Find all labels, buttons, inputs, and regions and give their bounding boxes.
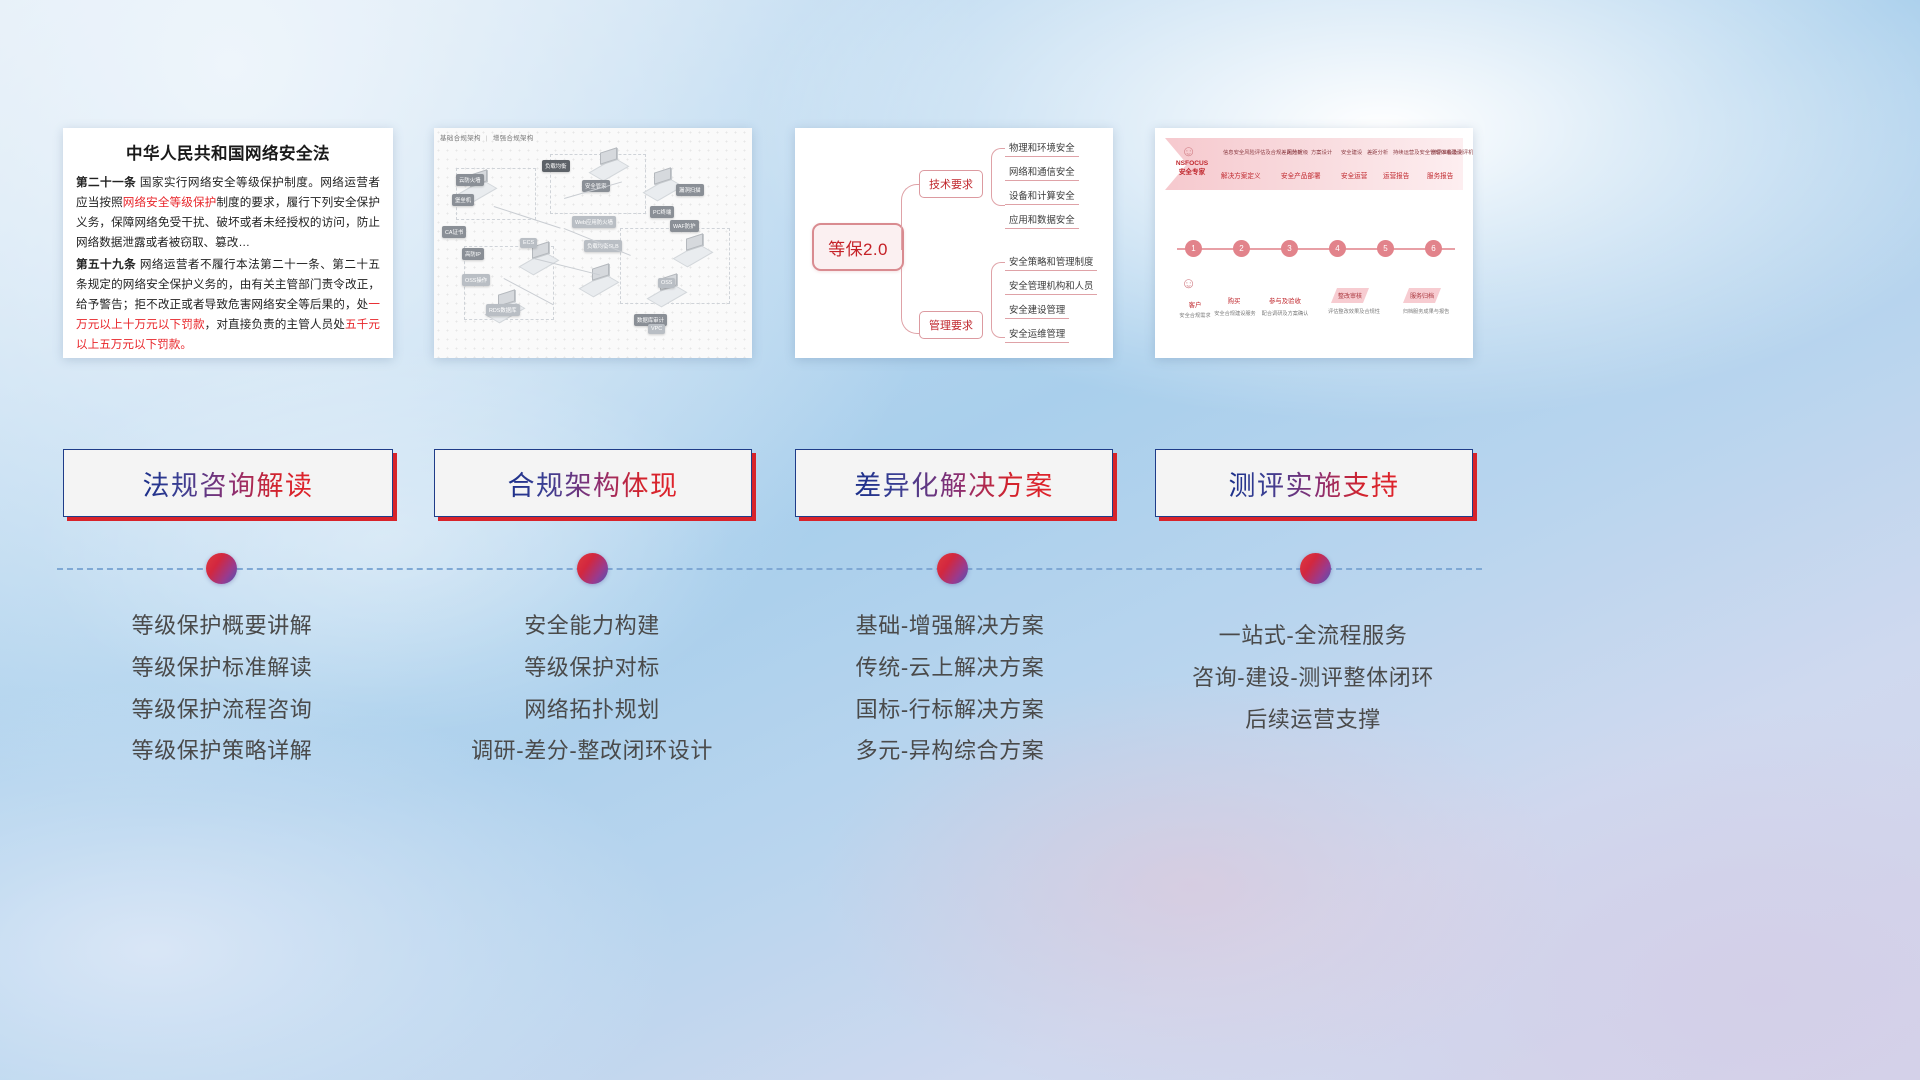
- nsfocus-header-6: 测评准备及测评机构对接支持: [1431, 148, 1473, 156]
- mindmap-leaf-mgmt-3: 安全运维管理: [1005, 326, 1069, 343]
- architecture-node-10: OSS: [658, 278, 675, 288]
- nsfocus-bottom-sub-3: 归档服务成果与报告: [1387, 308, 1465, 315]
- banner-label-0: 法规咨询解读: [143, 464, 314, 503]
- law-clause-21: 第二十一条 国家实行网络安全等级保护制度。网络运营者应当按照网络安全等级保护制度…: [76, 173, 380, 253]
- mindmap-root-node: 等保2.0: [812, 223, 904, 271]
- mindmap-leaf-mgmt-2: 安全建设管理: [1005, 302, 1069, 319]
- law-clause-59-label: 第五十九条: [76, 258, 136, 271]
- architecture-header: 基础合规架构|增强合规架构: [440, 132, 534, 142]
- list-item: 等级保护流程咨询: [42, 689, 402, 731]
- nsfocus-role-label: 客户: [1173, 300, 1217, 309]
- nsfocus-sub-0: 解决方案定义: [1221, 170, 1261, 180]
- banner-differentiated-solution[interactable]: 差异化解决方案: [795, 449, 1113, 517]
- nsfocus-step-0: 1: [1185, 240, 1202, 257]
- mindmap-diagram: 等保2.0 技术要求 管理要求 物理和环境安全 网络和通信安全 设备和计算安全 …: [795, 128, 1113, 358]
- mindmap-leaf-tech-2: 设备和计算安全: [1005, 188, 1079, 205]
- nsfocus-axis: [1177, 248, 1455, 250]
- architecture-node-14: CA证书: [442, 226, 466, 238]
- thumbnail-card-mindmap[interactable]: 等保2.0 技术要求 管理要求 物理和环境安全 网络和通信安全 设备和计算安全 …: [795, 128, 1113, 358]
- nsfocus-tag-1: 服务归档: [1403, 288, 1441, 303]
- timeline-dashed-line: [57, 568, 1482, 570]
- architecture-node-15: 高防IP: [462, 248, 484, 260]
- banner-legal-consulting[interactable]: 法规咨询解读: [63, 449, 393, 517]
- list-legal-consulting: 等级保护概要讲解 等级保护标准解读 等级保护流程咨询 等级保护策略详解: [42, 605, 402, 772]
- architecture-node-13: OSS操作: [462, 274, 490, 286]
- banner-label-1: 合规架构体现: [508, 464, 679, 503]
- mindmap-curve-tech-leaves: [991, 148, 1005, 206]
- nsfocus-step-5: 6: [1425, 240, 1442, 257]
- nsfocus-sub-1: 安全产品部署: [1281, 170, 1321, 180]
- nsfocus-header-2: 方案设计: [1311, 148, 1332, 156]
- nsfocus-bottom-sub-2: 评估整改效果及合规性: [1315, 308, 1393, 315]
- nsfocus-step-4: 5: [1377, 240, 1394, 257]
- list-item: 一站式-全流程服务: [1133, 615, 1493, 657]
- thumbnail-card-architecture[interactable]: 基础合规架构|增强合规架构 负载均衡 安全管家 云防火墙: [434, 128, 752, 358]
- mindmap-branch-tech: 技术要求: [919, 170, 983, 198]
- list-item: 等级保护策略详解: [42, 730, 402, 772]
- nsfocus-bottom-item-1: 参与及验收: [1261, 296, 1309, 305]
- architecture-header-left: 基础合规架构: [440, 135, 481, 142]
- nsfocus-sub-2: 安全运营: [1341, 170, 1367, 180]
- nsfocus-logo-line1: NSFOCUS: [1169, 160, 1215, 169]
- architecture-node-2: 云防火墙: [456, 174, 484, 186]
- law-clause-21-label: 第二十一条: [76, 176, 136, 189]
- timeline-dot-1: [577, 553, 608, 584]
- law-clause-59-text-2: ，对直接负责的主管人员处: [205, 318, 345, 331]
- nsfocus-header-1: 风险定级: [1287, 148, 1308, 156]
- banner-label-3: 测评实施支持: [1229, 464, 1400, 503]
- law-clause-21-highlight: 网络安全等级保护: [123, 196, 217, 209]
- expert-icon: ☺: [1181, 144, 1196, 159]
- thumbnail-card-nsfocus[interactable]: ☺ NSFOCUS 安全专家 信息安全风险评估及合规差距分析 风险定级 方案设计…: [1155, 128, 1473, 358]
- nsfocus-bottom-sub-1: 配合调研及方案确认: [1253, 310, 1317, 317]
- timeline-dot-0: [206, 553, 237, 584]
- list-item: 传统-云上解决方案: [770, 647, 1130, 689]
- nsfocus-logo: NSFOCUS 安全专家: [1169, 160, 1215, 178]
- mindmap-leaf-tech-3: 应用和数据安全: [1005, 212, 1079, 229]
- list-item: 等级保护对标: [412, 647, 772, 689]
- nsfocus-tag-0: 整改审核: [1331, 288, 1369, 303]
- banner-compliance-architecture[interactable]: 合规架构体现: [434, 449, 752, 517]
- list-item: 多元-异构综合方案: [770, 730, 1130, 772]
- timeline-dot-3: [1300, 553, 1331, 584]
- nsfocus-diagram: ☺ NSFOCUS 安全专家 信息安全风险评估及合规差距分析 风险定级 方案设计…: [1155, 128, 1473, 358]
- architecture-node-12: RDS数据库: [486, 304, 520, 316]
- list-item: 等级保护概要讲解: [42, 605, 402, 647]
- list-item: 等级保护标准解读: [42, 647, 402, 689]
- list-item: 安全能力构建: [412, 605, 772, 647]
- nsfocus-step-3: 4: [1329, 240, 1346, 257]
- list-item: 国标-行标解决方案: [770, 689, 1130, 731]
- nsfocus-header-4: 差距分析: [1367, 148, 1388, 156]
- architecture-node-8: ECS: [520, 238, 537, 248]
- architecture-node-3: 堡垒机: [452, 194, 474, 206]
- architecture-header-right: 增强合规架构: [493, 135, 534, 142]
- nsfocus-sub-4: 服务报告: [1427, 170, 1453, 180]
- list-compliance-architecture: 安全能力构建 等级保护对标 网络拓扑规划 调研-差分-整改闭环设计: [412, 605, 772, 772]
- nsfocus-step-2: 3: [1281, 240, 1298, 257]
- mindmap-curve-mgmt-leaves: [991, 262, 1005, 338]
- banner-label-2: 差异化解决方案: [854, 464, 1054, 503]
- nsfocus-sub-3: 运营报告: [1383, 170, 1409, 180]
- mindmap-leaf-mgmt-0: 安全策略和管理制度: [1005, 254, 1097, 271]
- nsfocus-bottom-item-0: 购买: [1217, 296, 1251, 305]
- customer-icon: ☺: [1181, 276, 1196, 291]
- thumbnail-card-law[interactable]: 中华人民共和国网络安全法 第二十一条 国家实行网络安全等级保护制度。网络运营者应…: [63, 128, 393, 358]
- mindmap-branch-mgmt: 管理要求: [919, 311, 983, 339]
- architecture-diagram: 基础合规架构|增强合规架构 负载均衡 安全管家 云防火墙: [434, 128, 752, 358]
- mindmap-leaf-tech-1: 网络和通信安全: [1005, 164, 1079, 181]
- architecture-node-5: WAF防护: [670, 220, 699, 232]
- architecture-node-0: 负载均衡: [542, 160, 570, 172]
- list-item: 调研-差分-整改闭环设计: [412, 730, 772, 772]
- list-item: 网络拓扑规划: [412, 689, 772, 731]
- law-clause-59: 第五十九条 网络运营者不履行本法第二十一条、第二十五条规定的网络安全保护义务的，…: [76, 255, 380, 355]
- architecture-node-4: Web应用防火墙: [572, 216, 616, 228]
- architecture-node-16: PC终端: [650, 206, 674, 218]
- architecture-node-7: 漏洞扫描: [676, 184, 704, 196]
- list-item: 后续运营支撑: [1133, 699, 1493, 741]
- law-title: 中华人民共和国网络安全法: [76, 140, 380, 164]
- nsfocus-logo-line2: 安全专家: [1169, 169, 1215, 178]
- mindmap-leaf-tech-0: 物理和环境安全: [1005, 140, 1079, 157]
- list-differentiated-solution: 基础-增强解决方案 传统-云上解决方案 国标-行标解决方案 多元-异构综合方案: [770, 605, 1130, 772]
- law-document: 中华人民共和国网络安全法 第二十一条 国家实行网络安全等级保护制度。网络运营者应…: [63, 128, 393, 354]
- nsfocus-header-3: 安全建设: [1341, 148, 1362, 156]
- list-item: 咨询-建设-测评整体闭环: [1133, 657, 1493, 699]
- architecture-node-11: VPC: [648, 324, 665, 334]
- list-evaluation-support: 一站式-全流程服务 咨询-建设-测评整体闭环 后续运营支撑: [1133, 615, 1493, 740]
- timeline-dot-2: [937, 553, 968, 584]
- list-item: 基础-增强解决方案: [770, 605, 1130, 647]
- banner-evaluation-support[interactable]: 测评实施支持: [1155, 449, 1473, 517]
- mindmap-leaf-mgmt-1: 安全管理机构和人员: [1005, 278, 1097, 295]
- nsfocus-step-1: 2: [1233, 240, 1250, 257]
